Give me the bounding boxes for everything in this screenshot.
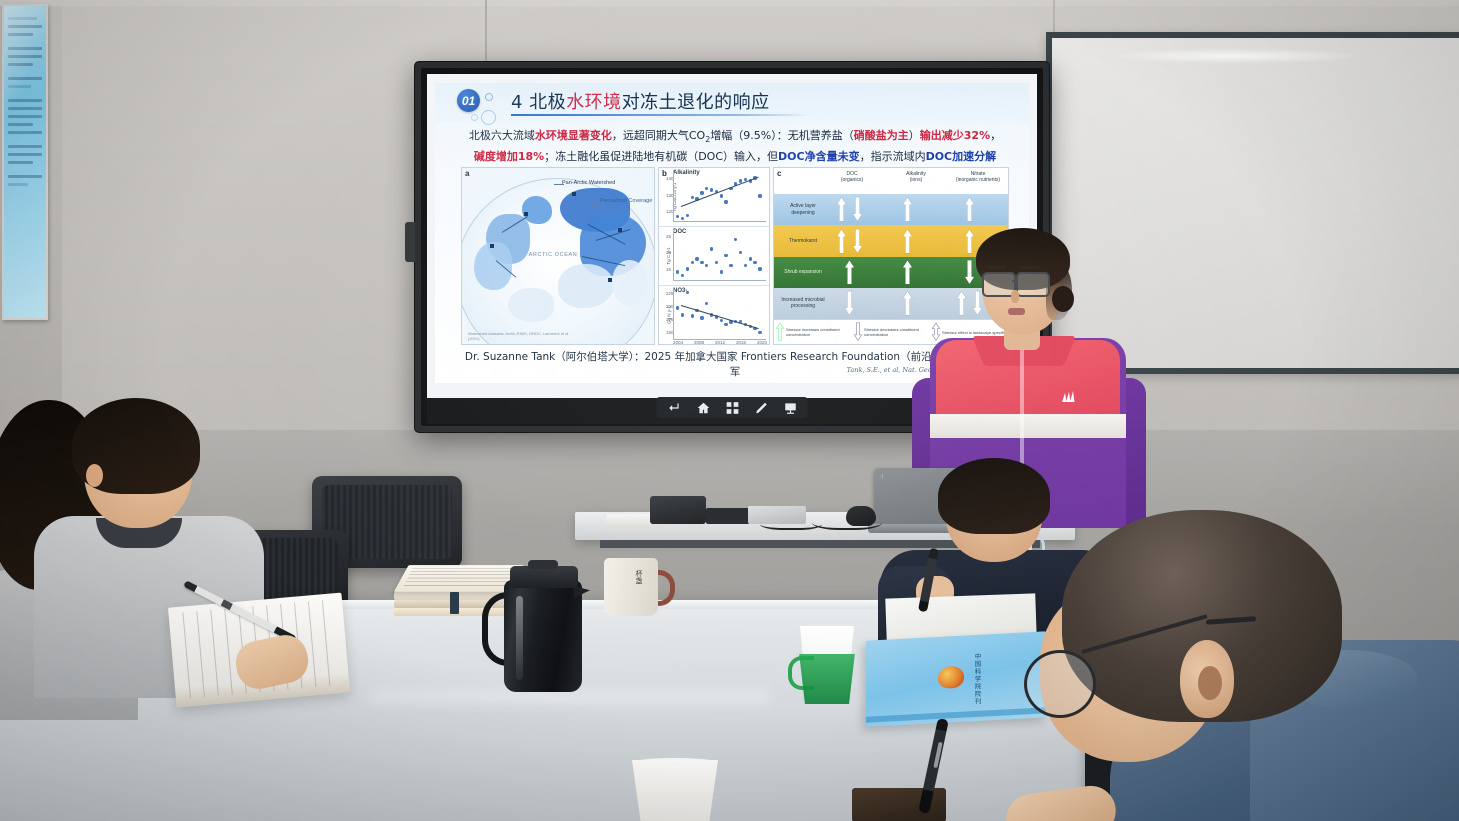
arrow-up-icon — [836, 228, 847, 254]
row-label: Active layer deepening — [778, 203, 828, 216]
station-marker — [524, 212, 528, 216]
equipment-box — [650, 496, 706, 524]
data-point — [691, 196, 694, 199]
station-marker — [618, 228, 622, 232]
data-point — [700, 191, 703, 194]
landmass — [612, 260, 648, 306]
data-point — [681, 217, 684, 220]
presenter-eyebrow — [986, 266, 1006, 269]
pen-icon[interactable] — [754, 400, 769, 415]
ceramic-mug[interactable]: 杯盏 — [604, 558, 670, 616]
ocean-label: ARCTIC OCEAN — [528, 252, 578, 259]
glasses-lens — [1016, 272, 1050, 297]
attendee-ear — [86, 464, 103, 487]
landmass — [522, 196, 552, 224]
arrow-up-icon — [902, 196, 913, 222]
annotation-leader — [554, 184, 564, 185]
figure-panel-b-timeseries: b Alkalinity Tg CaCO3 y-1 140 130 120 DO… — [658, 167, 770, 345]
data-point — [758, 267, 761, 270]
data-point — [700, 316, 703, 319]
arrow-up-icon — [964, 196, 975, 222]
data-point — [710, 247, 713, 250]
arrow-down-icon — [844, 290, 855, 316]
panel-letter: c — [777, 169, 781, 178]
poster-glare — [4, 6, 46, 318]
slide-title: 4 北极水环境对冻土退化的响应 — [511, 88, 770, 114]
arrow-down-icon — [852, 228, 863, 254]
subplot-nitrate: NO3- Gg N y-1 225 200 175 150 2004 2008 … — [659, 286, 769, 344]
panel-letter: b — [662, 169, 667, 178]
landmass — [474, 242, 512, 290]
column-sub: (ions) — [888, 177, 944, 183]
arrow-down-icon — [852, 196, 863, 222]
wall-poster — [2, 4, 48, 320]
slide-title-highlight: 水环境 — [566, 92, 622, 113]
data-point — [744, 264, 747, 267]
column-sub: (organics) — [824, 177, 880, 183]
data-point — [686, 291, 689, 294]
data-point — [753, 261, 756, 264]
row-label: Increased microbial processing — [778, 297, 828, 310]
x-tick: 2016 — [736, 340, 746, 345]
text-run: ） — [909, 129, 920, 142]
attendee-foreground-right — [1010, 500, 1459, 821]
plot-area — [673, 229, 766, 281]
data-point — [700, 261, 703, 264]
data-point — [676, 306, 679, 309]
thermos-knob — [528, 560, 558, 569]
plot-area — [673, 288, 766, 340]
display-side-button[interactable] — [405, 222, 415, 262]
slide-number-badge: 01 — [457, 89, 480, 112]
data-point — [739, 251, 742, 254]
data-point — [691, 314, 694, 317]
text-run: 北极六大流域 — [469, 129, 535, 142]
apps-grid-icon[interactable] — [725, 400, 740, 415]
data-point — [749, 257, 752, 260]
mug-body — [604, 558, 658, 616]
data-point — [715, 261, 718, 264]
data-point — [681, 313, 684, 316]
meeting-room-photo: 01 4 北极水环境对冻土退化的响应 北极六大流域水环境显著变化，远超同期大气C… — [0, 0, 1459, 821]
paper-cup-green-holder[interactable] — [796, 626, 858, 708]
panel-letter: a — [465, 169, 469, 178]
text-run: ；冻土融化虽促进陆地有机碳（DOC）输入，但 — [544, 150, 778, 163]
mug-text: 杯盏 — [634, 570, 642, 584]
booklet-emblem-icon — [938, 666, 964, 689]
whiteboard-glare — [1107, 48, 1367, 64]
y-tick: 20 — [666, 250, 671, 255]
data-point — [758, 331, 761, 334]
thermos-lid — [510, 566, 578, 588]
data-point — [676, 270, 679, 273]
plot-area — [673, 170, 766, 222]
slide-header: 01 4 北极水环境对冻土退化的响应 — [435, 83, 1029, 123]
column-header-nitrate: Nitrate (inorganic nutrients) — [950, 171, 1006, 183]
title-underline — [511, 114, 811, 116]
data-point — [724, 254, 727, 257]
y-tick: 15 — [666, 267, 671, 272]
text-run: ， — [990, 129, 1001, 142]
text-run-emphasis: 水环境显著变化 — [535, 129, 612, 142]
data-point — [705, 187, 708, 190]
presenter-eyebrow — [1020, 266, 1040, 269]
data-point — [720, 270, 723, 273]
map-source-note: Watershed datasets: Arctic-RIMS, GRDC, L… — [468, 331, 578, 341]
slide-body-text: 北极六大流域水环境显著变化，远超同期大气CO2增幅（9.5%）：无机营养盐（硝酸… — [461, 127, 1009, 165]
text-run-emphasis: DOC净含量未变 — [778, 150, 860, 163]
display-toolbar[interactable] — [657, 397, 808, 418]
home-icon[interactable] — [696, 400, 711, 415]
data-point — [720, 194, 723, 197]
column-header-doc: DOC (organics) — [824, 171, 880, 183]
data-point — [686, 267, 689, 270]
slide-title-prefix: 4 北极 — [511, 92, 566, 113]
row-label: Thermokarst — [778, 238, 828, 245]
figure-panel-a-map: a ARCTIC OCEAN Pan-Arctic Watershed Perm… — [461, 167, 655, 345]
annotation-leader — [592, 204, 600, 205]
data-point — [676, 215, 679, 218]
landmass — [508, 288, 554, 322]
presenter-vest-stripe — [930, 414, 1126, 438]
column-sub: (inorganic nutrients) — [950, 177, 1006, 183]
x-tick: 2020 — [757, 340, 767, 345]
presenter-mouth — [1008, 308, 1025, 315]
data-point — [710, 188, 713, 191]
equipment-box — [706, 508, 750, 524]
x-tick: 2012 — [715, 340, 725, 345]
back-icon[interactable] — [667, 400, 682, 415]
attendee-ear-inner — [1198, 666, 1222, 700]
glasses-lens — [1024, 650, 1096, 718]
trend-line — [681, 177, 759, 207]
booklet-title: 中国科学院院刊 — [972, 653, 980, 706]
legend-text: Stressor increases constituent concentra… — [786, 327, 850, 337]
glasses-bridge — [1012, 280, 1018, 282]
arrow-up-icon — [836, 196, 847, 222]
panel-c-header: c DOC (organics) Alkalinity (ions) Nitra… — [774, 168, 1008, 194]
legend-item-increase: Stressor increases constituent concentra… — [774, 320, 852, 344]
subplot-doc: DOC Tg C y-1 25 20 15 — [659, 227, 769, 286]
presenter-nose — [1011, 290, 1019, 303]
data-point — [695, 257, 698, 260]
station-marker — [572, 192, 576, 196]
text-run: 增幅（9.5%）：无机营养盐（ — [710, 129, 853, 142]
data-point — [705, 264, 708, 267]
slide-body-line-2: 碱度增加18%；冻土融化虽促进陆地有机碳（DOC）输入，但DOC净含量未变，指示… — [461, 148, 1009, 165]
x-tick: 2008 — [694, 340, 704, 345]
slide-title-suffix: 对冻土退化的响应 — [622, 92, 770, 113]
data-point — [686, 214, 689, 217]
data-point — [691, 261, 694, 264]
whiteboard-icon[interactable] — [783, 400, 798, 415]
decorative-circle — [485, 93, 493, 101]
text-run-emphasis: DOC加速分解 — [926, 150, 997, 163]
text-run-emphasis: 碱度增加18% — [474, 150, 544, 163]
cable — [760, 516, 822, 530]
x-tick: 2004 — [673, 340, 683, 345]
thermos-highlight — [516, 596, 523, 680]
data-point — [724, 200, 727, 203]
book-bookmark — [450, 592, 459, 614]
arrow-up-icon — [776, 322, 784, 341]
text-run-emphasis: 硝酸盐为主 — [854, 129, 909, 142]
table-reflection — [370, 690, 770, 704]
data-point — [724, 323, 727, 326]
map-annotation-permafrost: Permafrost Coverage — [600, 198, 652, 205]
column-header-alkalinity: Alkalinity (ions) — [888, 171, 944, 183]
map-annotation-watershed: Pan-Arctic Watershed — [562, 180, 615, 187]
y-tick: 25 — [666, 234, 671, 239]
data-point — [705, 302, 708, 305]
arrow-down-icon — [854, 322, 862, 341]
green-cup-holder — [798, 654, 856, 704]
ceiling-edge — [0, 0, 1459, 6]
data-point — [734, 238, 737, 241]
text-run: ，远超同期大气CO — [612, 129, 705, 142]
text-run-emphasis: 输出减少32% — [920, 129, 990, 142]
arrow-up-icon — [844, 259, 855, 285]
presenter-hair-bun — [1052, 286, 1074, 312]
decorative-circle — [471, 114, 478, 121]
paper-cup-foreground[interactable] — [632, 760, 718, 821]
x-axis-ticks: 2004 2008 2012 2016 2020 — [673, 340, 767, 345]
station-marker — [608, 278, 612, 282]
jacket-logo-icon — [1060, 390, 1076, 402]
station-marker — [490, 244, 494, 248]
data-point — [729, 264, 732, 267]
subplot-alkalinity: Alkalinity Tg CaCO3 y-1 140 130 120 — [659, 168, 769, 227]
row-active-layer-deepening: Active layer deepening — [774, 194, 1008, 225]
row-label: Shrub expansion — [778, 269, 828, 276]
decorative-circle — [481, 110, 496, 125]
data-point — [720, 319, 723, 322]
slide-body-line-1: 北极六大流域水环境显著变化，远超同期大气CO2增幅（9.5%）：无机营养盐（硝酸… — [461, 127, 1009, 148]
data-point — [758, 194, 761, 197]
text-run: ，指示流域内 — [860, 150, 926, 163]
thermos[interactable] — [500, 552, 586, 692]
data-point — [681, 274, 684, 277]
